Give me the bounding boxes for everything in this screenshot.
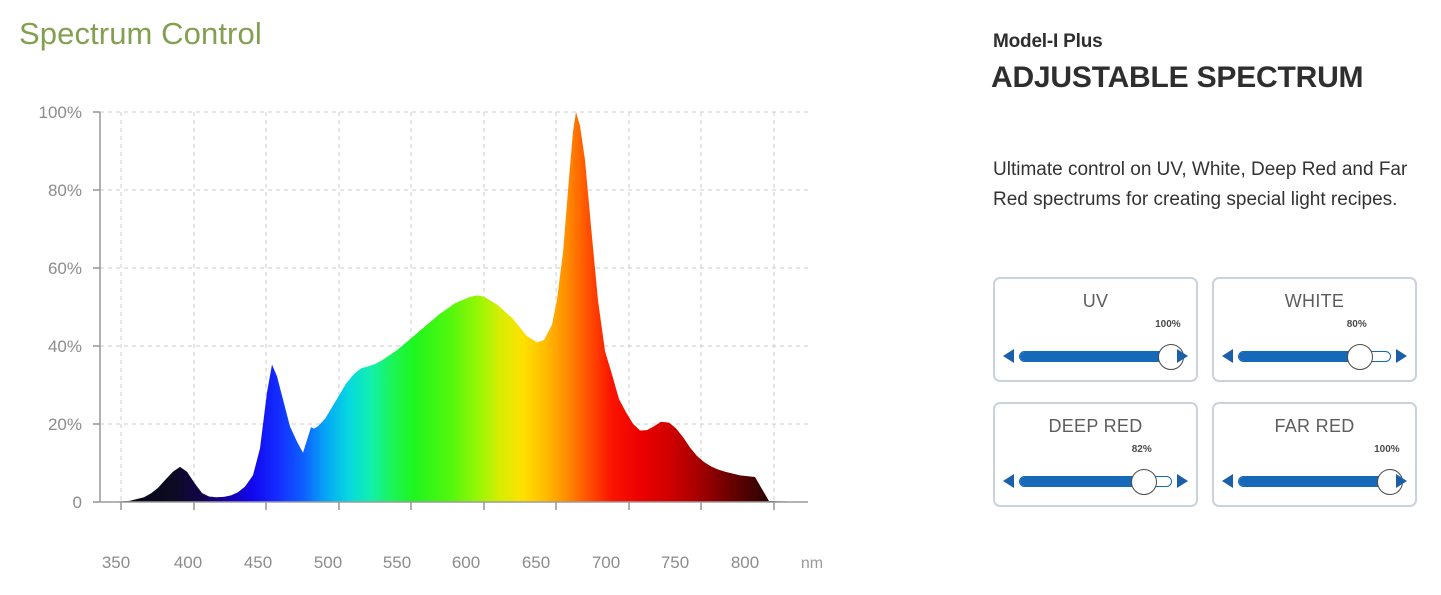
x-tick-label: 450: [244, 553, 272, 572]
slider-value-uv: 100%: [1155, 319, 1181, 330]
spectrum-chart: 100% 80% 60% 40% 20% 0: [0, 60, 900, 595]
slider-fill-deep-red: [1020, 477, 1144, 486]
x-tick-label: 650: [522, 553, 550, 572]
increment-arrow-icon[interactable]: [1396, 349, 1407, 363]
headline: ADJUSTABLE SPECTRUM: [991, 58, 1421, 97]
spectrum-slider-grid: UV 100% WHITE 80%: [993, 277, 1417, 507]
slider-fill-far-red: [1239, 477, 1390, 486]
x-tick-label: 750: [661, 553, 689, 572]
x-tick-label: 350: [102, 553, 130, 572]
x-tick-label: 400: [174, 553, 202, 572]
spectrum-control-page: Spectrum Control: [0, 0, 1441, 595]
slider-row-uv[interactable]: [1003, 341, 1188, 371]
slider-track-deep-red[interactable]: [1019, 476, 1172, 487]
description-text: Ultimate control on UV, White, Deep Red …: [993, 155, 1425, 215]
decrement-arrow-icon[interactable]: [1003, 474, 1014, 488]
slider-row-white[interactable]: [1222, 341, 1407, 371]
slider-fill-white: [1239, 352, 1360, 361]
slider-track-white[interactable]: [1238, 351, 1391, 362]
page-title: Spectrum Control: [19, 16, 262, 52]
spectrum-curve-area: [100, 112, 808, 502]
x-axis-unit-label: nm: [801, 555, 823, 572]
y-axis-ticks: [93, 112, 100, 502]
decrement-arrow-icon[interactable]: [1222, 474, 1233, 488]
increment-arrow-icon[interactable]: [1177, 474, 1188, 488]
slider-label-far-red: FAR RED: [1214, 416, 1415, 437]
slider-value-deep-red: 82%: [1132, 444, 1152, 455]
slider-knob-deep-red[interactable]: [1131, 469, 1157, 495]
y-tick-label: 60%: [48, 259, 82, 278]
x-axis-ticks: [121, 502, 774, 510]
slider-row-far-red[interactable]: [1222, 466, 1407, 496]
x-tick-label: 600: [452, 553, 480, 572]
y-tick-label: 100%: [39, 103, 82, 122]
decrement-arrow-icon[interactable]: [1222, 349, 1233, 363]
y-tick-label: 80%: [48, 181, 82, 200]
slider-track-uv[interactable]: [1019, 351, 1172, 362]
slider-label-white: WHITE: [1214, 291, 1415, 312]
y-axis-tick-labels: 100% 80% 60% 40% 20% 0: [39, 103, 82, 512]
slider-value-white: 80%: [1347, 319, 1367, 330]
slider-card-white[interactable]: WHITE 80%: [1212, 277, 1417, 382]
x-tick-label: 800: [731, 553, 759, 572]
chart-panel: Spectrum Control: [0, 0, 960, 595]
increment-arrow-icon[interactable]: [1396, 474, 1407, 488]
slider-card-deep-red[interactable]: DEEP RED 82%: [993, 402, 1198, 507]
slider-row-deep-red[interactable]: [1003, 466, 1188, 496]
x-axis-tick-labels: 350 400 450 500 550 600 650 700 750 800 …: [102, 553, 823, 572]
info-panel: Model-I Plus ADJUSTABLE SPECTRUM Ultimat…: [991, 0, 1431, 595]
slider-knob-white[interactable]: [1347, 344, 1373, 370]
y-tick-label: 0: [73, 493, 82, 512]
increment-arrow-icon[interactable]: [1177, 349, 1188, 363]
slider-card-far-red[interactable]: FAR RED 100%: [1212, 402, 1417, 507]
slider-label-uv: UV: [995, 291, 1196, 312]
slider-label-deep-red: DEEP RED: [995, 416, 1196, 437]
x-tick-label: 700: [592, 553, 620, 572]
slider-track-far-red[interactable]: [1238, 476, 1391, 487]
x-tick-label: 550: [383, 553, 411, 572]
y-tick-label: 20%: [48, 415, 82, 434]
slider-card-uv[interactable]: UV 100%: [993, 277, 1198, 382]
x-tick-label: 500: [314, 553, 342, 572]
slider-fill-uv: [1020, 352, 1171, 361]
model-name: Model-I Plus: [993, 31, 1103, 53]
slider-value-far-red: 100%: [1374, 444, 1400, 455]
decrement-arrow-icon[interactable]: [1003, 349, 1014, 363]
y-tick-label: 40%: [48, 337, 82, 356]
